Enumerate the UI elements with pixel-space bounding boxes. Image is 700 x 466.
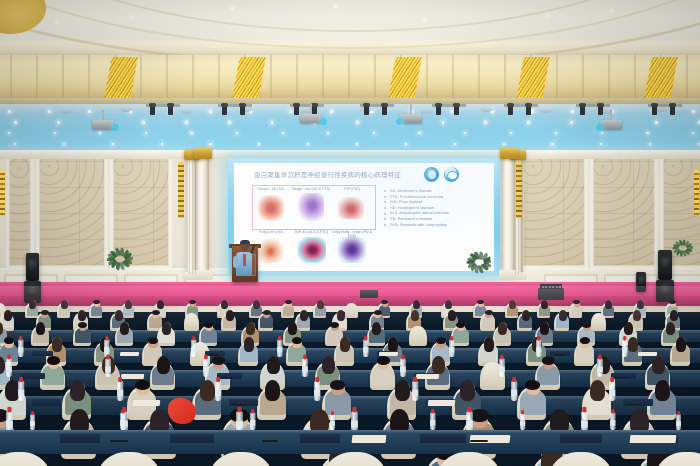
pa-speaker (658, 250, 672, 280)
track-spotlight (670, 106, 675, 115)
column-base (499, 270, 519, 280)
ceiling-downlight (356, 121, 359, 124)
ceiling-downlight (527, 121, 530, 124)
ceiling-downlight (54, 132, 56, 134)
attendee-hair (120, 322, 129, 335)
paper-handout (428, 400, 455, 406)
attendee-hair (115, 310, 123, 321)
ceiling-downlight (510, 132, 512, 134)
notebook (60, 434, 100, 443)
cove-rib (62, 55, 64, 101)
attendee-hair (522, 310, 530, 321)
cove-rib (608, 55, 610, 101)
cove-rib (296, 55, 298, 101)
list-item: DLB: Dementia with Lewy bodies (384, 222, 492, 228)
cove-gold-inlay (104, 57, 137, 99)
attendee-hair (263, 310, 271, 315)
wall-gold-light-strip (0, 170, 5, 216)
track-spotlight (598, 106, 603, 115)
attendee-hair (226, 310, 234, 321)
track-spotlight (526, 106, 531, 115)
water-bottle (191, 339, 197, 357)
cove-rib (634, 55, 636, 101)
cove-gold-inlay (644, 57, 677, 99)
track-spotlight (294, 106, 299, 115)
cove-rib (556, 55, 558, 101)
track-spotlight (454, 106, 459, 115)
ceiling-downlight (646, 132, 648, 134)
institute-logo-ring-icon (444, 167, 459, 182)
micrograph-label: Plaque - Aβ (AD) (249, 187, 293, 191)
attendee-hair (267, 356, 280, 374)
attendee-hair (125, 300, 132, 309)
water-bottle (330, 414, 335, 430)
water-bottle (430, 412, 436, 430)
attendee-hair (322, 356, 335, 374)
attendee-hair (395, 380, 410, 401)
ceiling (0, 0, 700, 160)
ceiling-downlight (209, 110, 212, 113)
attendee-hair (559, 310, 567, 321)
water-bottle (105, 359, 111, 378)
attendee-hair (525, 380, 540, 390)
ceiling-downlight (334, 5, 337, 8)
attendee-hair (152, 310, 160, 315)
column-front (502, 156, 515, 278)
water-bottle (449, 339, 455, 357)
attendee-hair (655, 380, 670, 401)
attendee-hair (411, 310, 419, 321)
ceiling-downlight (551, 143, 553, 145)
attendee-hair (36, 322, 45, 335)
paper-handout (416, 374, 439, 379)
ceiling-downlight (8, 110, 11, 113)
paper-handout (379, 352, 399, 356)
pen (554, 354, 564, 356)
attendee-hair (246, 322, 255, 335)
water-bottle (120, 412, 126, 430)
ceiling-downlight (161, 143, 163, 145)
attendee-hair (4, 310, 12, 321)
attendee-hair (670, 310, 678, 321)
notebook (170, 434, 214, 443)
ceiling-downlight (692, 110, 695, 113)
chair-back (345, 303, 358, 318)
ceiling-downlight (271, 121, 274, 124)
column-capital (500, 148, 518, 159)
attendee-hair (498, 322, 507, 335)
pen (627, 404, 640, 406)
ceiling-downlight (142, 121, 145, 124)
water-bottle (610, 412, 616, 430)
track-spotlight (150, 106, 155, 115)
micrograph-image (258, 195, 284, 221)
attendee-hair (432, 356, 445, 374)
water-bottle (314, 381, 320, 401)
pa-speaker (26, 253, 39, 281)
projector-lens (320, 118, 327, 125)
water-bottle (412, 381, 418, 401)
ceiling-downlight (130, 16, 133, 19)
ceiling-downlight (231, 7, 234, 10)
wall-gold-light-strip (178, 162, 184, 218)
attendee-hair (288, 322, 297, 335)
cove-rib (374, 55, 376, 101)
attendee-hair (637, 300, 644, 309)
micrograph-label: PrP (PrD) (330, 187, 374, 191)
cove-gold-inlay (516, 57, 549, 99)
paper-handout (120, 352, 140, 356)
attendee-hair (135, 380, 150, 390)
cove-rib (36, 55, 38, 101)
water-bottle (277, 339, 283, 357)
water-bottle (499, 359, 505, 378)
attendee-hair (484, 337, 495, 352)
water-bottle (30, 414, 35, 430)
column-flute (189, 160, 190, 274)
ceiling-downlight (209, 143, 211, 145)
ceiling-downlight (228, 121, 231, 124)
column-base (193, 270, 213, 280)
ceiling-downlight (570, 121, 573, 124)
potted-plant (106, 246, 132, 272)
column-capital (194, 148, 212, 159)
attendee-hair (157, 356, 170, 374)
ceiling-projector (300, 114, 322, 123)
track-spotlight (364, 106, 369, 115)
wall-decorative-panel (590, 153, 658, 269)
water-bottle (520, 413, 525, 430)
notebook (20, 373, 45, 379)
notebook (420, 434, 466, 443)
attendee-hair (47, 356, 60, 365)
ceiling-downlight (282, 132, 284, 134)
potted-plant (672, 238, 693, 259)
paper-handout (470, 435, 511, 443)
attendee-hair (377, 356, 390, 365)
track-spotlight (168, 106, 173, 115)
paper-handout (352, 435, 387, 443)
attendee-hair (540, 322, 549, 335)
ceiling-downlight (185, 121, 188, 124)
notebook (300, 434, 340, 443)
attendee-hair (624, 322, 633, 335)
ceiling-downlight (610, 9, 613, 12)
pen (233, 404, 246, 406)
micrograph-image (298, 237, 326, 263)
av-knob (549, 286, 551, 288)
cove-rib (452, 55, 454, 101)
cove-rib (348, 55, 350, 101)
ceiling-downlight (418, 132, 420, 134)
micrograph-image (338, 237, 366, 263)
water-bottle (536, 339, 542, 357)
av-knob (556, 286, 558, 288)
presentation-slide: 蛋白聚集体沉积是神经退行性疾病的核心病理特征 AD: Alzheimer's d… (234, 163, 494, 271)
micrograph-image (298, 193, 324, 221)
pen (262, 440, 278, 442)
attendee-hair (330, 380, 345, 390)
attendee-hair (157, 300, 164, 309)
table-top-edge (0, 430, 700, 433)
column-flute (195, 160, 196, 274)
cove-rib (478, 55, 480, 101)
attendee-hair (29, 300, 36, 309)
water-bottle (511, 381, 517, 401)
cove-rib (582, 55, 584, 101)
ceiling-downlight (655, 121, 658, 124)
track-spotlight (508, 106, 513, 115)
cove-rib (504, 55, 506, 101)
av-equipment (538, 288, 564, 300)
attendee-hair (470, 409, 488, 422)
attendee-hair (676, 337, 687, 352)
projector-lens (396, 118, 403, 125)
attendee-hair (61, 300, 68, 309)
water-bottle (676, 414, 681, 430)
attendee-hair (388, 337, 399, 352)
pen (470, 440, 488, 442)
chair-back-foreground (208, 452, 274, 466)
attendee-hair (374, 310, 382, 315)
speaker-arm (233, 256, 238, 268)
ceiling-air-diffuser (420, 109, 433, 114)
ceiling-downlight (442, 121, 445, 124)
micrograph-image (338, 197, 364, 219)
attendee-hair (52, 337, 63, 352)
attendee-hair (541, 300, 548, 309)
cove-rib (192, 55, 194, 101)
projector-lens (596, 124, 603, 131)
slide-abbreviation-list: AD: Alzheimer's disease FTD: Frontotempo… (384, 188, 492, 227)
potted-plant (466, 250, 491, 275)
attendee-hair (628, 337, 639, 352)
ceiling-projector (600, 120, 622, 129)
wall-gold-light-strip (516, 162, 522, 218)
chair-back (184, 313, 199, 330)
ceiling-downlight (330, 110, 333, 113)
cove-gold-inlay (232, 57, 265, 99)
attendee-hair (337, 310, 345, 321)
micrograph-label: PolyQ-htt (HD) (249, 230, 293, 234)
water-bottle (215, 381, 221, 401)
attendee-hair (300, 310, 308, 321)
cove-rib (270, 55, 272, 101)
av-knob (542, 286, 544, 288)
pa-speaker-sub (656, 280, 674, 302)
ceiling-downlight (55, 20, 58, 23)
water-bottle (203, 359, 209, 378)
attendee-hair (413, 300, 420, 309)
cove-rib (218, 55, 220, 101)
water-bottle (18, 381, 24, 401)
ceiling-downlight (503, 143, 505, 145)
audience-seating-area (0, 288, 700, 466)
attendee-hair (78, 310, 86, 321)
notebook (560, 434, 602, 443)
micrograph-label: TDP-43 (ALS & FTD) (289, 230, 333, 234)
attendee-hair (244, 337, 255, 352)
chair-back (409, 326, 427, 346)
ceiling-air-diffuser (120, 107, 133, 112)
attendee-hair (253, 300, 260, 309)
cove-rib (88, 55, 90, 101)
notebook (32, 399, 61, 406)
cove-rib (322, 55, 324, 101)
ceiling-downlight (14, 121, 17, 124)
micrograph-image (258, 239, 284, 263)
track-spotlight (580, 106, 585, 115)
attendee-hair (221, 300, 228, 309)
wall-decorative-panel (36, 153, 108, 269)
attendee-hair (590, 380, 605, 401)
pen (209, 354, 219, 356)
column-flute (192, 160, 193, 274)
track-spotlight (652, 106, 657, 115)
red-plastic-bag (168, 398, 196, 424)
ceiling-downlight (57, 121, 60, 124)
ceiling-projector (92, 120, 114, 129)
av-equipment (360, 290, 378, 298)
attendee-hair (605, 300, 612, 309)
attendee-hair (70, 380, 85, 401)
speaker-lanyard (243, 254, 246, 266)
cove-rib (140, 55, 142, 101)
attendee-hair (633, 310, 641, 321)
ceiling-air-diffuser (60, 109, 73, 114)
projector-lens (112, 124, 119, 131)
conference-hall-photo: 蛋白聚集体沉积是神经退行性疾病的核心病理特征 AD: Alzheimer's d… (0, 0, 700, 466)
pen (110, 440, 128, 442)
ceiling-downlight (571, 110, 574, 113)
cove-gold-inlay (388, 57, 421, 99)
wall-decorative-panel (6, 155, 34, 269)
attendee-hair (317, 300, 324, 309)
institute-logo-blue-icon (424, 167, 439, 182)
ceiling-downlight (48, 110, 51, 113)
attendee-hair (485, 310, 493, 315)
pa-speaker-small (636, 272, 646, 292)
track-spotlight (222, 106, 227, 115)
ceiling-air-diffuser (180, 109, 193, 114)
attendee-hair (509, 300, 516, 309)
cove-rib (686, 55, 688, 101)
attendee-hair (372, 322, 381, 335)
ceiling-projector (400, 114, 422, 123)
attendee-hair (652, 356, 665, 374)
paper-handout (630, 435, 677, 443)
ceiling-downlight (531, 110, 534, 113)
ceiling-downlight (546, 14, 549, 17)
attendee-hair (200, 380, 215, 401)
speaker-cap (240, 240, 250, 244)
water-bottle (18, 339, 24, 357)
micrograph-label: Lewy body - α-syn (PD & DLB) (330, 230, 374, 238)
attendee-hair (162, 322, 171, 335)
attendee-hair (666, 322, 675, 335)
water-bottle (609, 381, 615, 401)
paper-handout (120, 374, 143, 379)
chair-back (591, 313, 606, 330)
water-bottle (622, 339, 628, 357)
water-bottle (363, 339, 369, 357)
cove-rib (426, 55, 428, 101)
notebook (32, 351, 53, 356)
wall-gold-light-strip (694, 170, 699, 216)
water-bottle (597, 359, 603, 378)
track-spotlight (240, 106, 245, 115)
water-bottle (400, 359, 406, 378)
water-bottle (250, 412, 256, 430)
attendee-hair (340, 337, 351, 352)
av-knob (559, 286, 561, 288)
micrograph-label: Tangle - tau (AD & FTD) (289, 187, 333, 191)
water-bottle (302, 359, 308, 378)
ceiling-cove-band (0, 55, 700, 101)
projection-screen: 蛋白聚集体沉积是神经退行性疾病的核心病理特征 AD: Alzheimer's d… (234, 163, 494, 271)
ceiling-air-diffuser (480, 107, 493, 112)
paper-handout (638, 352, 658, 356)
water-bottle (117, 381, 123, 401)
cove-rib (166, 55, 168, 101)
attendee-hair (212, 356, 225, 365)
ceiling-downlight (484, 121, 487, 124)
ceiling-downlight (423, 18, 426, 21)
cove-rib (10, 55, 12, 101)
attendee-hair (448, 310, 456, 321)
attendee-hair (445, 300, 452, 309)
track-spotlight (436, 106, 441, 115)
ceiling-downlight (190, 132, 192, 134)
water-bottle (6, 359, 12, 378)
attendee-hair (41, 310, 49, 315)
track-spotlight (382, 106, 387, 115)
attendee-hair (460, 380, 475, 401)
chair-back-foreground (0, 452, 52, 466)
wall-decorative-panel (520, 153, 588, 269)
ceiling-air-diffuser (540, 108, 553, 113)
attendee-hair (265, 380, 280, 401)
paper-handout (132, 400, 159, 406)
attendee-hair (542, 356, 555, 365)
column-front (196, 156, 209, 278)
